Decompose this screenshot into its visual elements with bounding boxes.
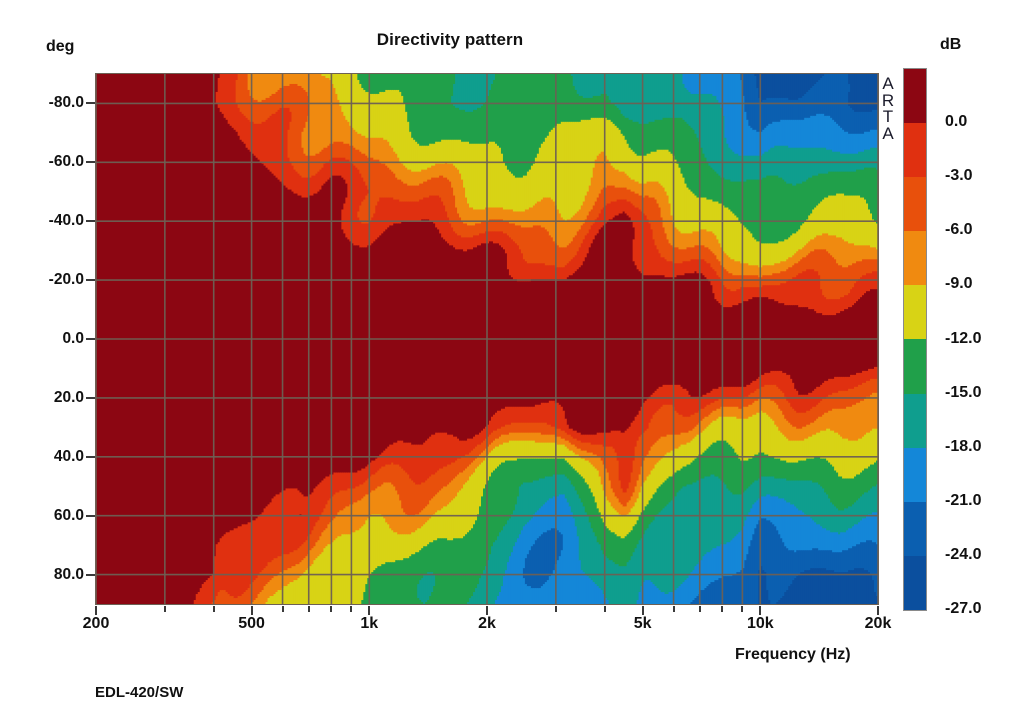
x-tick-mark-minor (555, 606, 557, 612)
x-tick-label: 200 (83, 615, 110, 633)
x-axis-title: Frequency (Hz) (735, 646, 851, 664)
x-tick-mark-minor (350, 606, 352, 612)
y-tick-label: -20.0 (49, 271, 84, 289)
colorbar-tick-label: 0.0 (945, 113, 967, 131)
x-tick-mark-minor (721, 606, 723, 612)
colorbar-tick-label: -3.0 (945, 167, 973, 185)
colorbar-band (904, 123, 926, 177)
x-tick-label: 500 (238, 615, 265, 633)
y-tick-label: -40.0 (49, 212, 84, 230)
x-tick-mark-major (251, 606, 253, 615)
y-tick-mark (86, 102, 95, 104)
y-tick-mark (86, 161, 95, 163)
x-tick-mark-minor (673, 606, 675, 612)
x-tick-mark-minor (604, 606, 606, 612)
x-tick-mark-major (368, 606, 370, 615)
colorbar-band (904, 339, 926, 393)
x-tick-label: 1k (360, 615, 378, 633)
y-tick-label: 0.0 (62, 330, 84, 348)
colorbar-band (904, 69, 926, 123)
colorbar (903, 68, 927, 611)
x-tick-mark-minor (282, 606, 284, 612)
x-tick-mark-major (759, 606, 761, 615)
x-tick-label: 10k (747, 615, 774, 633)
y-tick-label: 80.0 (54, 566, 84, 584)
y-tick-label: 60.0 (54, 507, 84, 525)
x-tick-label: 5k (634, 615, 652, 633)
colorbar-tick-label: -12.0 (945, 330, 981, 348)
colorbar-band (904, 502, 926, 556)
y-tick-mark (86, 220, 95, 222)
colorbar-tick-label: -21.0 (945, 492, 981, 510)
y-tick-mark (86, 397, 95, 399)
x-tick-mark-minor (741, 606, 743, 612)
arta-watermark: ARTA (878, 76, 898, 143)
colorbar-band (904, 394, 926, 448)
colorbar-band (904, 231, 926, 285)
x-tick-mark-minor (330, 606, 332, 612)
watermark-letter: A (882, 126, 893, 143)
colorbar-band (904, 448, 926, 502)
device-label: EDL-420/SW (95, 684, 183, 701)
colorbar-tick-label: -9.0 (945, 275, 973, 293)
x-tick-label: 2k (478, 615, 496, 633)
colorbar-tick-label: -15.0 (945, 384, 981, 402)
y-tick-label: 20.0 (54, 389, 84, 407)
y-tick-label: -60.0 (49, 153, 84, 171)
x-tick-mark-minor (699, 606, 701, 612)
directivity-heatmap (96, 74, 878, 604)
colorbar-tick-label: -18.0 (945, 438, 981, 456)
x-tick-mark-minor (308, 606, 310, 612)
colorbar-unit-label: dB (940, 36, 961, 54)
y-tick-label: 40.0 (54, 448, 84, 466)
colorbar-band (904, 285, 926, 339)
y-tick-label: -80.0 (49, 94, 84, 112)
x-tick-mark-minor (213, 606, 215, 612)
y-tick-mark (86, 338, 95, 340)
colorbar-tick-label: -6.0 (945, 221, 973, 239)
x-tick-mark-major (486, 606, 488, 615)
chart-title: Directivity pattern (0, 30, 900, 50)
y-tick-mark (86, 515, 95, 517)
plot-area (95, 73, 879, 605)
y-tick-mark (86, 279, 95, 281)
y-axis-ticks: -80.0-60.0-40.0-20.00.020.040.060.080.0 (0, 0, 84, 715)
x-tick-mark-major (642, 606, 644, 615)
colorbar-band (904, 177, 926, 231)
x-tick-mark-major (95, 606, 97, 615)
x-tick-label: 20k (865, 615, 892, 633)
x-tick-mark-major (877, 606, 879, 615)
colorbar-band (904, 556, 926, 610)
y-tick-mark (86, 574, 95, 576)
directivity-chart-page: deg Directivity pattern -80.0-60.0-40.0-… (0, 0, 1024, 715)
x-tick-mark-minor (164, 606, 166, 612)
colorbar-tick-label: -27.0 (945, 600, 981, 618)
y-tick-mark (86, 456, 95, 458)
colorbar-tick-label: -24.0 (945, 546, 981, 564)
